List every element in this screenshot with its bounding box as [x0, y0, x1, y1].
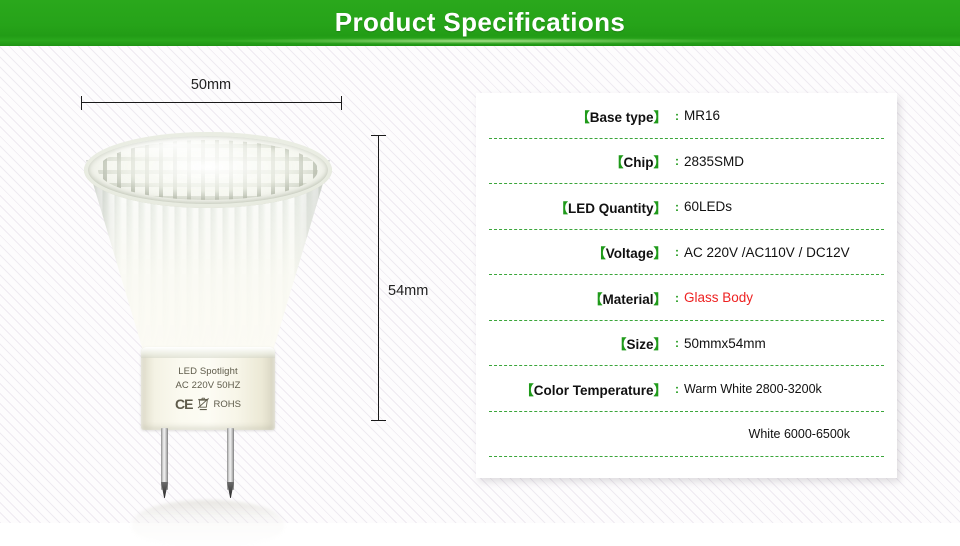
spec-value: AC 220V /AC110V / DC12V	[684, 245, 897, 260]
spec-row-content: 【Size】:50mmx54mm	[476, 321, 897, 367]
bracket-close: 】	[654, 201, 668, 216]
bulb-pin-left-tip	[161, 482, 168, 498]
spec-label: 【Color Temperature】	[476, 379, 670, 399]
spec-row: 【LED Quantity】:60LEDs	[476, 184, 897, 230]
width-dimension-right-cap	[341, 96, 342, 110]
spec-value: MR16	[684, 108, 897, 123]
bulb-pin-left	[161, 428, 168, 490]
bracket-close: 】	[654, 246, 668, 261]
bracket-open: 【	[576, 110, 590, 125]
product-image-area: 50mm 54mm LED Spotlight AC 220V 50HZ CE	[0, 46, 460, 523]
spec-colon: :	[670, 109, 684, 123]
spec-label: 【Material】	[476, 288, 670, 308]
spec-row: 【Material】:Glass Body	[476, 275, 897, 321]
spec-colon: :	[670, 200, 684, 214]
spec-row-content: 【LED Quantity】:60LEDs	[476, 184, 897, 230]
bracket-close: 】	[654, 110, 668, 125]
spec-row: White 6000-6500k	[476, 412, 897, 458]
width-dimension-line	[81, 102, 341, 103]
spec-value: 50mmx54mm	[684, 336, 897, 351]
height-dimension-label: 54mm	[388, 283, 428, 299]
bulb-base-voltage-text: AC 220V 50HZ	[141, 380, 275, 391]
bracket-open: 【	[613, 337, 627, 352]
spec-row-content: 【Material】:Glass Body	[476, 275, 897, 321]
mr16-led-bulb-image: LED Spotlight AC 220V 50HZ CE ROHS	[84, 132, 334, 482]
bracket-close: 】	[654, 337, 668, 352]
bulb-base-top-band	[141, 347, 275, 358]
spec-label-text: Base type	[590, 110, 654, 125]
bracket-close: 】	[654, 292, 668, 307]
spec-label: 【Base type】	[476, 106, 670, 126]
spec-row: 【Size】:50mmx54mm	[476, 321, 897, 367]
bracket-open: 【	[589, 292, 603, 307]
spec-value: Glass Body	[684, 290, 897, 305]
bulb-pin-right	[227, 428, 234, 490]
bulb-pin-right-tip	[227, 482, 234, 498]
spec-row-content: 【Color Temperature】:Warm White 2800-3200…	[476, 366, 897, 412]
bulb-base-model-text: LED Spotlight	[141, 366, 275, 377]
ce-mark-icon: CE	[175, 396, 192, 412]
spec-label-text: Color Temperature	[534, 383, 654, 398]
height-dimension-top-cap	[371, 135, 386, 136]
bulb-reflection	[132, 500, 284, 546]
bracket-close: 】	[654, 383, 668, 398]
spec-value: 60LEDs	[684, 199, 897, 214]
product-specifications-page: Product Specifications 50mm 54mm LED Spo…	[0, 0, 960, 523]
spec-colon: :	[670, 154, 684, 168]
spec-label: 【Voltage】	[476, 242, 670, 262]
spec-colon: :	[670, 382, 684, 396]
width-dimension-label: 50mm	[81, 77, 341, 93]
bracket-open: 【	[592, 246, 606, 261]
height-dimension-line	[378, 135, 379, 420]
spec-row: 【Chip】:2835SMD	[476, 139, 897, 185]
spec-label-text: Size	[626, 337, 653, 352]
width-dimension-left-cap	[81, 96, 82, 110]
bracket-open: 【	[610, 155, 624, 170]
spec-label-text: Chip	[624, 155, 654, 170]
spec-row: 【Voltage】:AC 220V /AC110V / DC12V	[476, 230, 897, 276]
spec-row-content: White 6000-6500k	[476, 412, 897, 458]
spec-value: Warm White 2800-3200k	[684, 382, 897, 396]
spec-value: 2835SMD	[684, 154, 897, 169]
height-dimension-bottom-cap	[371, 420, 386, 421]
spec-label-text: Material	[602, 292, 653, 307]
bracket-open: 【	[520, 383, 534, 398]
bulb-face-rim	[84, 132, 332, 208]
spec-colon: :	[670, 336, 684, 350]
page-header-banner: Product Specifications	[0, 0, 960, 46]
spec-label: 【Chip】	[476, 151, 670, 171]
bracket-open: 【	[554, 201, 568, 216]
spec-row: 【Color Temperature】:Warm White 2800-3200…	[476, 366, 897, 412]
spec-colon: :	[670, 245, 684, 259]
bulb-base-certification-marks: CE ROHS	[141, 394, 275, 414]
spec-label-text: LED Quantity	[568, 201, 654, 216]
spec-label: 【Size】	[476, 333, 670, 353]
page-title: Product Specifications	[0, 0, 960, 44]
spec-label: 【LED Quantity】	[476, 197, 670, 217]
spec-row-content: 【Chip】:2835SMD	[476, 139, 897, 185]
spec-row-content: 【Base type】:MR16	[476, 93, 897, 139]
spec-row-content: 【Voltage】:AC 220V /AC110V / DC12V	[476, 230, 897, 276]
specifications-list: 【Base type】:MR16【Chip】:2835SMD【LED Quant…	[476, 93, 897, 457]
spec-row-divider	[489, 456, 884, 457]
bracket-close: 】	[654, 155, 668, 170]
rohs-mark-label: ROHS	[214, 399, 241, 410]
crossed-out-wheelie-bin-icon	[197, 397, 210, 411]
spec-row: 【Base type】:MR16	[476, 93, 897, 139]
spec-label-text: Voltage	[606, 246, 654, 261]
specifications-panel: 【Base type】:MR16【Chip】:2835SMD【LED Quant…	[476, 93, 897, 478]
spec-colon: :	[670, 291, 684, 305]
spec-value: White 6000-6500k	[476, 427, 897, 441]
